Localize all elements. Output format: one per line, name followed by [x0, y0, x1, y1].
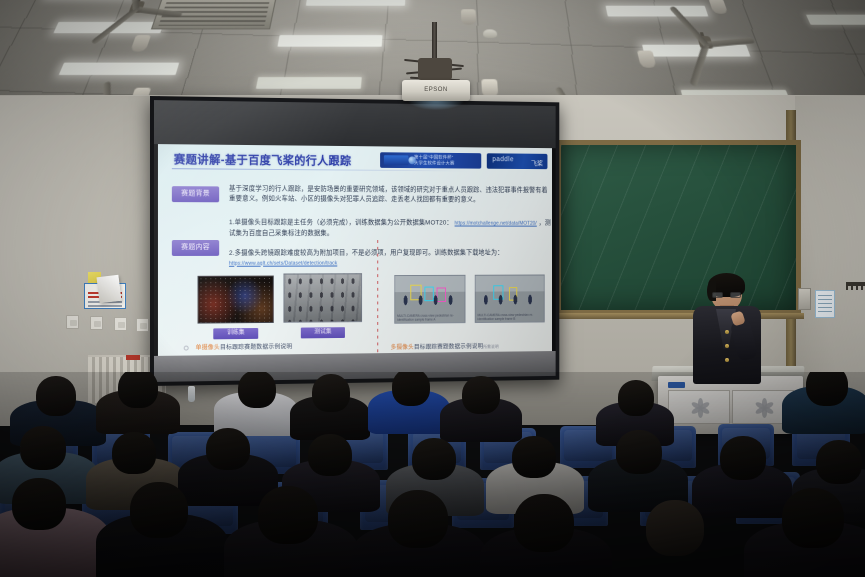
jacket-button [725, 344, 729, 348]
light-switch[interactable] [90, 316, 103, 330]
thumbnail-multicam-a: MULTI-CAMERA cross-view pedestrian re-id… [394, 275, 465, 324]
red-wall-sign [126, 355, 140, 360]
paddle-mark: paddle [492, 156, 514, 163]
banner-line2: 大学生软件设计大赛 [414, 160, 478, 166]
attendee-head [312, 374, 350, 412]
thumbnail-multicam-b: MULTI-CAMERA cross-view pedestrian re-id… [475, 275, 545, 324]
projector-brand-label: EPSON [402, 87, 470, 93]
attendee-head [20, 426, 66, 470]
screen-top-band [154, 100, 556, 148]
ceiling-fan [704, 41, 705, 42]
attendee-head [512, 436, 556, 478]
thumbnail-test-set [283, 273, 362, 323]
attendee-head [720, 436, 766, 480]
bullet-icon [184, 346, 189, 351]
presentation-slide: 赛题讲解-基于百度飞桨的行人跟踪 第十届"中国软件杯" 大学生软件设计大赛 pa… [158, 144, 552, 360]
attendee-head [388, 490, 448, 548]
attendee-head [118, 372, 158, 408]
light-switch[interactable] [136, 318, 149, 332]
attendee-head [206, 428, 250, 470]
thumb-label-test: 测试集 [301, 327, 345, 338]
projection-screen: 赛题讲解-基于百度飞桨的行人跟踪 第十届"中国软件杯" 大学生软件设计大赛 pa… [150, 96, 559, 386]
ceiling-light-panel [642, 45, 750, 57]
content-item-2-link[interactable]: https://www.aqlt.ch/sets/Dataset/detecti… [229, 260, 337, 266]
attendee-head [462, 376, 500, 414]
audience-area: I AM NOT PERFECT [0, 372, 865, 577]
coat-hook-rail [846, 282, 865, 286]
competition-banner: 第十届"中国软件杯" 大学生软件设计大赛 [380, 152, 481, 168]
presenter [690, 276, 764, 384]
thumbnail-train-set [198, 276, 274, 324]
title-underline [172, 168, 469, 171]
ceiling-light-panel [59, 63, 180, 75]
attendee-head [816, 440, 862, 484]
attendee-head [130, 482, 188, 538]
tag-content: 赛题内容 [172, 240, 219, 256]
ceiling-light-panel [256, 77, 362, 89]
attendee-head [782, 488, 844, 548]
content-item-1-link[interactable]: https://motchallenge.net/data/MOT20/ [455, 221, 537, 227]
footnote-1-highlight: 单摄像头 [196, 345, 220, 351]
projector-beam-glow [408, 100, 464, 110]
lecture-hall-photo: EPSON 赛题讲解-基于百度飞桨的行人跟踪 [0, 0, 865, 577]
thumb-label-train: 训练集 [213, 328, 258, 339]
water-bottle [188, 386, 195, 402]
chalk-tray [553, 313, 804, 319]
light-switch[interactable] [66, 315, 79, 329]
content-item-1-text: 1.单摄像头目标跟踪是主任务（必须完成），训练数据集为公开数据集MOT20： [229, 219, 453, 226]
thumbnail-a-caption: MULTI-CAMERA cross-view pedestrian re-id… [397, 313, 463, 321]
ceiling-light-panel [606, 6, 709, 17]
jacket-button [725, 330, 729, 334]
attendee-head [258, 486, 318, 544]
content-item-2: 2.多摄像头跨镜跟踪难度较高为附加项目，不是必须项，用户复现即可。训练数据集下载… [229, 249, 552, 269]
paddlepaddle-logo: paddle 飞桨 [487, 153, 548, 169]
wall-junction-box [798, 288, 811, 310]
attendee-head [646, 500, 704, 556]
wall-notice-card [815, 290, 835, 318]
banner-graphic [384, 155, 409, 165]
attendee-head [36, 376, 76, 416]
footnote-2-highlight: 多摄像头 [391, 345, 414, 351]
ceiling-speaker [461, 9, 476, 24]
epson-projector: EPSON [402, 80, 470, 101]
jacket-button [725, 358, 729, 362]
attendee-head [412, 438, 456, 480]
slide-title: 赛题讲解-基于百度飞桨的行人跟踪 [174, 151, 352, 168]
background-paragraph: 基于深度学习的行人跟踪，是安防场景的重要研究领域，该领域的研究对于重点人员跟踪、… [229, 184, 550, 204]
vertical-dashed-divider [377, 240, 378, 355]
smoke-detector-icon [483, 29, 497, 38]
footnote-2-tiny: 所需说明 [483, 344, 499, 349]
ceiling-fan [136, 6, 137, 7]
glasses-icon [712, 292, 741, 298]
attendee-head [12, 478, 66, 530]
paddle-name: 飞桨 [531, 158, 543, 168]
ceiling-light-panel [806, 15, 865, 25]
green-chalkboard [556, 140, 801, 315]
attendee-head [806, 372, 848, 406]
ceiling-light-panel [306, 0, 406, 6]
presenter-hair-side [707, 281, 716, 301]
attendee-head [112, 432, 156, 474]
content-item-2-text: 2.多摄像头跨镜跟踪难度较高为附加项目，不是必须项，用户复现即可。训练数据集下载… [229, 250, 503, 257]
tag-background: 赛题背景 [172, 186, 219, 202]
attendee-head [392, 372, 430, 406]
footnote-2-rest: 目标跟踪赛题数据示例说明 [414, 344, 483, 351]
footnote-single-cam: 单摄像头目标跟踪赛题数据示例说明 [196, 341, 293, 351]
attendee-head [514, 494, 574, 552]
attendee-head [618, 380, 654, 416]
content-item-1: 1.单摄像头目标跟踪是主任务（必须完成），训练数据集为公开数据集MOT20： h… [229, 218, 552, 238]
poster-curled-paper [96, 275, 121, 303]
ceiling-light-panel [277, 35, 382, 47]
thumbnail-b-caption: MULTI-CAMERA cross-view pedestrian re-id… [478, 313, 542, 321]
footnote-1-rest: 目标跟踪赛题数据示例说明 [220, 344, 292, 351]
attendee-head [308, 434, 352, 476]
light-switch[interactable] [114, 317, 127, 331]
footnote-multi-cam: 多摄像头目标跟踪赛题数据示例说明所需说明 [391, 341, 499, 351]
attendee-head [616, 430, 662, 474]
attendee-head [238, 372, 276, 408]
